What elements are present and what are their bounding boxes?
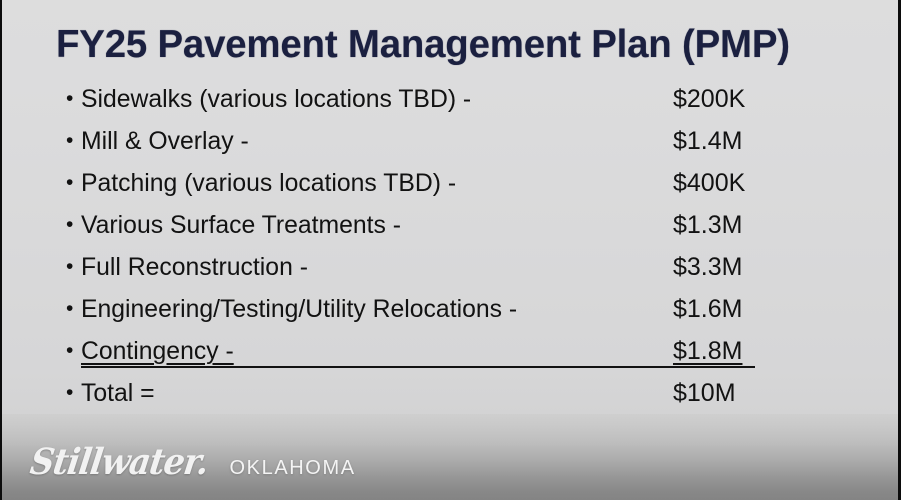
budget-line-item-row: •Contingency -$1.8M (2, 330, 901, 372)
budget-line-item-row: •Total =$10M (2, 372, 901, 414)
budget-line-item-amount: $200K (673, 78, 745, 120)
budget-line-item-amount: $10M (673, 372, 736, 414)
stillwater-wordmark: Stillwater. (28, 444, 210, 480)
bullet-icon: • (66, 204, 80, 246)
bullet-icon: • (66, 162, 80, 204)
budget-line-item-label: Total = (81, 372, 155, 414)
budget-line-item-row: •Various Surface Treatments -$1.3M (2, 204, 901, 246)
bullet-icon: • (66, 288, 80, 330)
budget-line-item-amount: $1.8M (673, 330, 742, 372)
slide-footer-band: Stillwater. OKLAHOMA (2, 414, 898, 500)
budget-line-item-row: •Sidewalks (various locations TBD) -$200… (2, 78, 901, 120)
budget-line-item-row: •Engineering/Testing/Utility Relocations… (2, 288, 901, 330)
budget-line-item-label: Engineering/Testing/Utility Relocations … (81, 288, 517, 330)
stillwater-oklahoma-logo: Stillwater. OKLAHOMA (28, 444, 356, 480)
budget-line-item-amount: $1.6M (673, 288, 742, 330)
budget-line-item-label: Contingency - (81, 330, 234, 372)
bullet-icon: • (66, 78, 80, 120)
budget-line-item-amount: $400K (673, 162, 745, 204)
budget-line-item-amount: $1.3M (673, 204, 742, 246)
budget-line-item-list: •Sidewalks (various locations TBD) -$200… (2, 78, 901, 414)
budget-line-item-amount: $3.3M (673, 246, 742, 288)
budget-line-item-label: Full Reconstruction - (81, 246, 308, 288)
bullet-icon: • (66, 120, 80, 162)
budget-line-item-row: •Full Reconstruction -$3.3M (2, 246, 901, 288)
oklahoma-wordmark: OKLAHOMA (230, 458, 356, 478)
budget-line-item-label: Mill & Overlay - (81, 120, 249, 162)
budget-line-item-row: •Patching (various locations TBD) -$400K (2, 162, 901, 204)
bullet-icon: • (66, 246, 80, 288)
budget-line-item-amount: $1.4M (673, 120, 742, 162)
budget-line-item-label: Patching (various locations TBD) - (81, 162, 456, 204)
budget-line-item-row: •Mill & Overlay -$1.4M (2, 120, 901, 162)
page-title: FY25 Pavement Management Plan (PMP) (56, 22, 844, 68)
bullet-icon: • (66, 330, 80, 372)
budget-line-item-label: Various Surface Treatments - (81, 204, 401, 246)
presentation-slide: FY25 Pavement Management Plan (PMP) •Sid… (0, 0, 901, 500)
budget-line-item-label: Sidewalks (various locations TBD) - (81, 78, 471, 120)
bullet-icon: • (66, 372, 80, 414)
